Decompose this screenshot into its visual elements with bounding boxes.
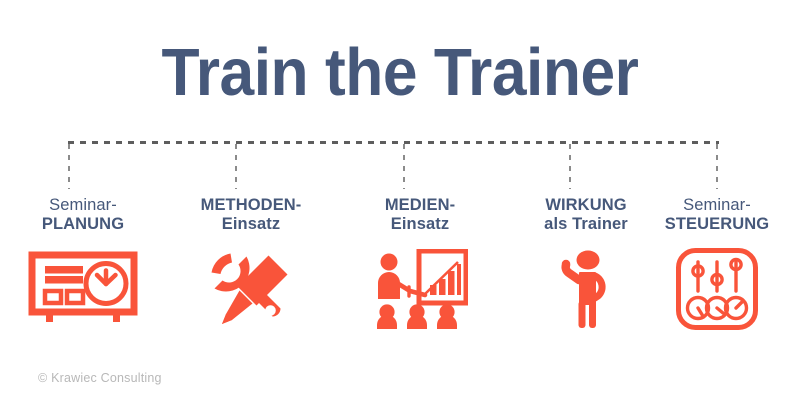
icon-presenter-barchart-audience bbox=[336, 247, 504, 331]
page-title: Train the Trainer bbox=[28, 34, 772, 112]
label-line-1: METHODEN- bbox=[167, 196, 335, 215]
connector-dropper-2 bbox=[235, 144, 237, 189]
column-medien-einsatz: MEDIEN- Einsatz bbox=[336, 196, 504, 331]
label-line-2: Einsatz bbox=[336, 215, 504, 234]
column-methoden-einsatz: METHODEN- Einsatz bbox=[167, 196, 335, 331]
column-label: MEDIEN- Einsatz bbox=[336, 196, 504, 234]
column-label: Seminar- PLANUNG bbox=[0, 196, 167, 234]
infographic-canvas: Train the Trainer Seminar- PLANUNG bbox=[0, 0, 800, 400]
footer-credit: © Krawiec Consulting bbox=[38, 371, 162, 385]
connector-dropper-3 bbox=[403, 144, 405, 189]
icon-presentation-board-schedule-clock bbox=[0, 247, 167, 331]
column-seminar-planung: Seminar- PLANUNG bbox=[0, 196, 167, 331]
column-label: METHODEN- Einsatz bbox=[167, 196, 335, 234]
label-line-2: STEUERUNG bbox=[633, 215, 800, 234]
label-line-1: Seminar- bbox=[633, 196, 800, 215]
connector-dropper-1 bbox=[68, 144, 70, 189]
column-label: Seminar- STEUERUNG bbox=[633, 196, 800, 234]
column-seminar-steuerung: Seminar- STEUERUNG bbox=[633, 196, 800, 331]
icon-wrench-screwdriver-tools bbox=[167, 247, 335, 331]
label-line-1: MEDIEN- bbox=[336, 196, 504, 215]
label-line-2: Einsatz bbox=[167, 215, 335, 234]
label-line-1: Seminar- bbox=[0, 196, 167, 215]
icon-sliders-dials-control-panel bbox=[633, 247, 800, 331]
connector-dropper-4 bbox=[569, 144, 571, 189]
connector-dropper-5 bbox=[716, 144, 718, 189]
label-line-2: PLANUNG bbox=[0, 215, 167, 234]
connector-line bbox=[68, 141, 719, 144]
